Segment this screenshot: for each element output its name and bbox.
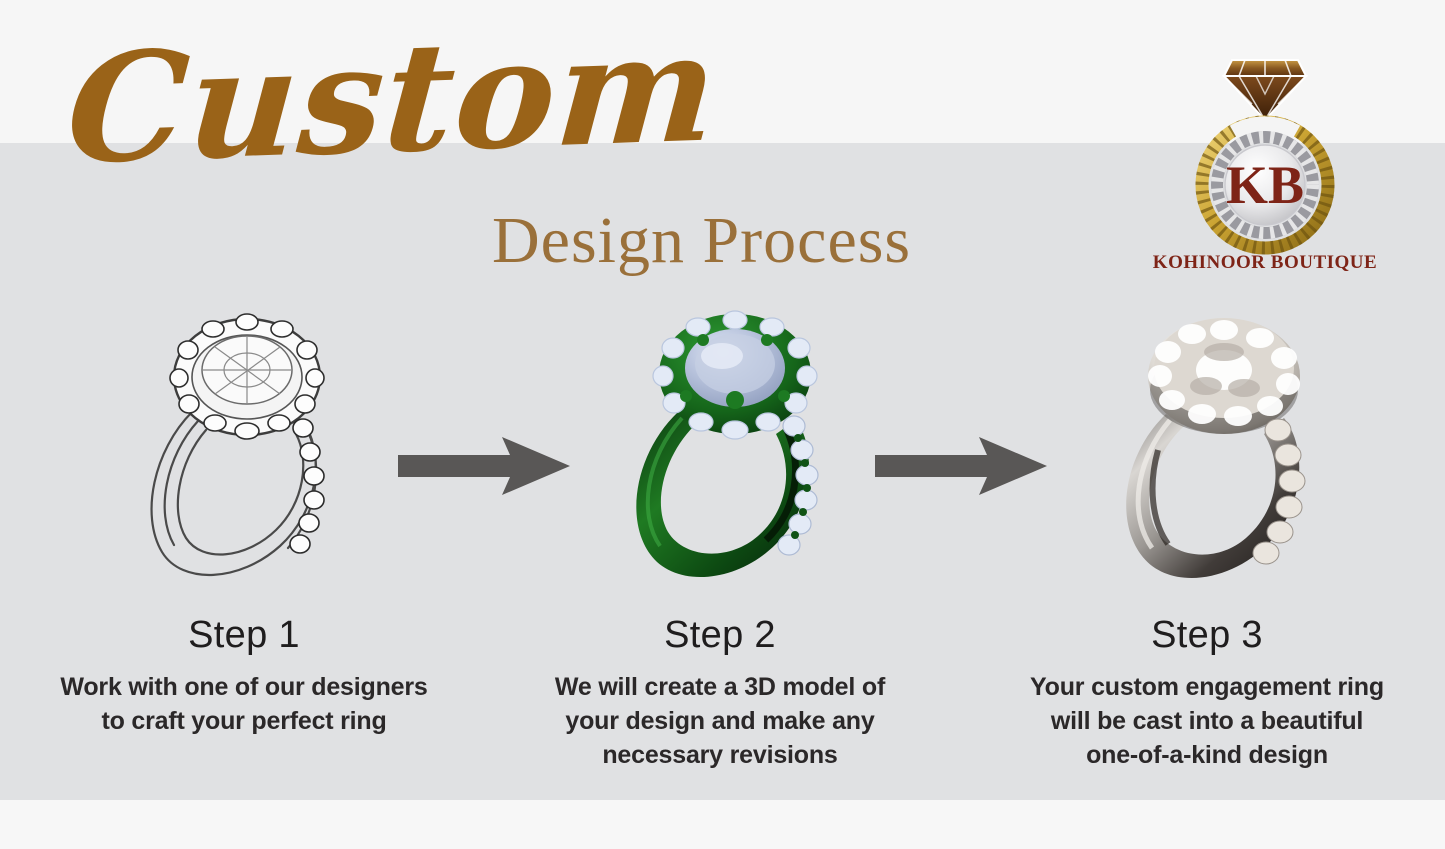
step-2-description-line: necessary revisions: [500, 738, 940, 772]
logo-brand-name: KOHINOOR BOUTIQUE: [1150, 252, 1380, 274]
step-2-description: We will create a 3D model of your design…: [500, 670, 940, 772]
custom-design-process-banner: Custom Design Process: [0, 0, 1445, 849]
step-1-title: Step 1: [8, 612, 480, 658]
step-1-caption: Step 1 Work with one of our designers to…: [8, 612, 480, 738]
ring-pencil-sketch-icon: [120, 300, 370, 590]
step-2-caption: Step 2 We will create a 3D model of your…: [500, 612, 940, 772]
step-3-caption: Step 3 Your custom engagement ring will …: [972, 612, 1442, 772]
kohinoor-boutique-logo[interactable]: KB KOHINOOR BOUTIQUE: [1150, 52, 1380, 284]
step-3-description-line: will be cast into a beautiful: [972, 704, 1442, 738]
ring-finished-photo-icon: [1098, 300, 1348, 590]
background-band-bottom: [0, 800, 1445, 849]
headline-design-process: Design Process: [492, 205, 911, 277]
step-3-title: Step 3: [972, 612, 1442, 658]
step-3-description-line: Your custom engagement ring: [972, 670, 1442, 704]
step-2-title: Step 2: [500, 612, 940, 658]
logo-monogram-text: KB: [1226, 155, 1304, 215]
arrow-step2-to-step3: [875, 435, 1047, 497]
arrow-right-icon: [398, 435, 570, 497]
arrow-step1-to-step2: [398, 435, 570, 497]
step-2-description-line: your design and make any: [500, 704, 940, 738]
arrow-right-icon: [875, 435, 1047, 497]
step-1-ring-image: [120, 300, 370, 590]
step-3-description-line: one-of-a-kind design: [972, 738, 1442, 772]
step-2-description-line: We will create a 3D model of: [500, 670, 940, 704]
step-2-ring-image: [608, 300, 858, 590]
step-1-description: Work with one of our designers to craft …: [8, 670, 480, 738]
step-3-description: Your custom engagement ring will be cast…: [972, 670, 1442, 772]
headline-custom-script: Custom: [60, 0, 717, 225]
step-1-description-line: Work with one of our designers: [8, 670, 480, 704]
step-1-description-line: to craft your perfect ring: [8, 704, 480, 738]
step-3-ring-image: [1098, 300, 1348, 590]
ring-3d-cad-model-icon: [608, 300, 858, 590]
ring-wreath-icon: KB: [1188, 107, 1342, 257]
steps-image-row: [0, 300, 1445, 600]
